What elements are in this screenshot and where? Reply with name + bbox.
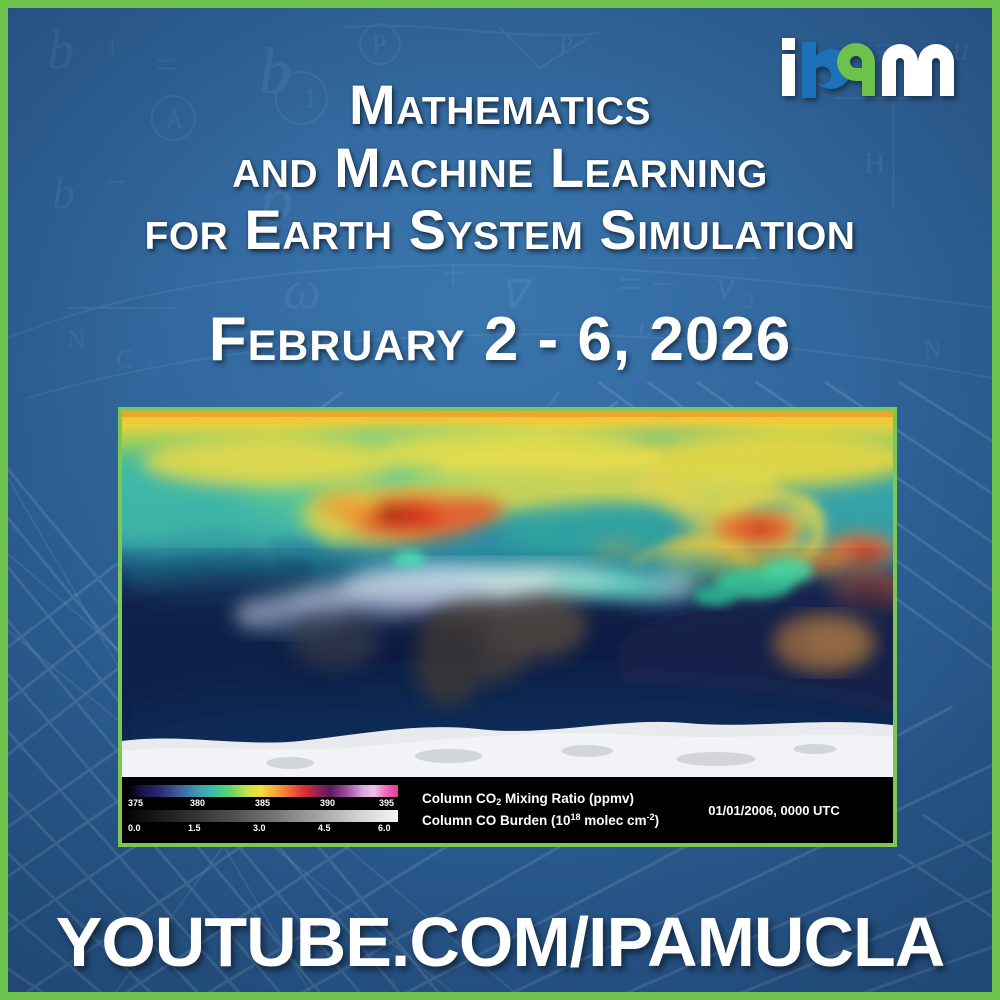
co-tick-4: 6.0 [378,823,391,833]
co2-tick-0: 375 [128,798,143,808]
co2-tick-3: 390 [320,798,335,808]
co-tick-0: 0.0 [128,823,141,833]
colorbars: 375 380 385 390 395 0.0 1.5 3.0 4.5 6.0 [122,785,406,835]
co2-legend-label: Column CO2 Mixing Ratio (ppmv) [422,788,663,810]
global-co2-map [122,411,893,777]
page-title: Mathematics and Machine Learning for Ear… [8,74,992,262]
co2-simulation-figure: 375 380 385 390 395 0.0 1.5 3.0 4.5 6.0 [118,407,897,847]
co-tick-3: 4.5 [318,823,331,833]
co2-colorbar-row: 375 380 385 390 395 [128,785,398,810]
co-tick-1: 1.5 [188,823,201,833]
co2-tick-4: 395 [379,798,394,808]
co-colorbar-row: 0.0 1.5 3.0 4.5 6.0 [128,810,398,835]
co-colorbar [128,810,398,822]
co-tick-2: 3.0 [253,823,266,833]
figure-legend: 375 380 385 390 395 0.0 1.5 3.0 4.5 6.0 [122,777,893,843]
figure-timestamp: 01/01/2006, 0000 UTC [663,803,893,818]
event-date: February 2 - 6, 2026 [8,304,992,375]
co-legend-label: Column CO Burden (1018 molec cm-2) [422,810,663,832]
co-colorbar-ticks: 0.0 1.5 3.0 4.5 6.0 [128,822,398,835]
legend-labels: Column CO2 Mixing Ratio (ppmv) Column CO… [406,788,663,833]
co2-tick-2: 385 [255,798,270,808]
youtube-url[interactable]: YOUTUBE.COM/IPAMUCLA [8,902,992,982]
co2-colorbar [128,785,398,797]
title-line-1: Mathematics [48,74,952,137]
title-line-3: for Earth System Simulation [48,199,952,262]
poster-canvas: b 1 = b 1 u b = − u b − b ω + ∇ = − v 2 … [0,0,1000,1000]
title-line-2: and Machine Learning [48,137,952,200]
co2-tick-1: 380 [190,798,205,808]
co2-colorbar-ticks: 375 380 385 390 395 [128,797,398,810]
